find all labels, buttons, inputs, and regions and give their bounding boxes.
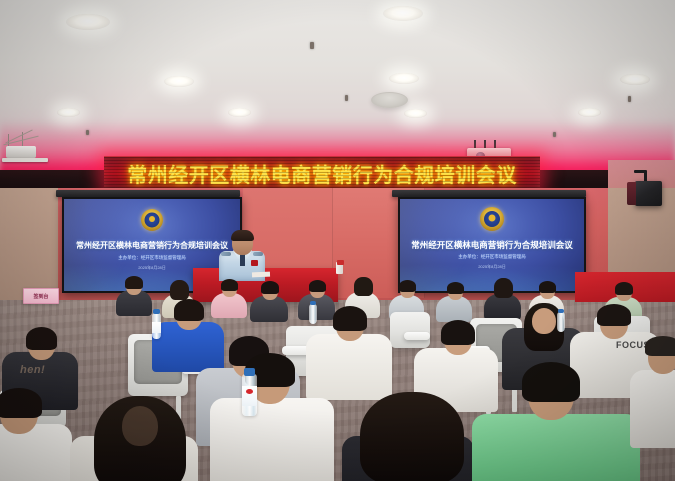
presenter-hair	[231, 230, 254, 241]
ceiling-light	[383, 6, 423, 21]
ceiling-light	[620, 74, 650, 85]
presenter-epaulette	[253, 252, 263, 256]
screen-left-subtitle: 主办单位：经开区市场监督管理局	[64, 255, 240, 261]
sprinkler-head-icon	[345, 95, 348, 101]
signin-placard-text: 签到台	[33, 293, 48, 300]
bottle-label	[152, 322, 161, 333]
screen-right-subtitle: 主办单位：经开区市场监督管理局	[400, 254, 584, 260]
ceiling-light	[57, 108, 80, 117]
person-torso	[472, 414, 640, 481]
person-torso	[306, 334, 392, 400]
person-hair	[522, 362, 580, 402]
screen-left-title: 常州经开区横林电商营销行为合规培训会议	[64, 240, 240, 251]
shirt-print-hen: hen!	[20, 364, 45, 376]
person-hair	[597, 304, 631, 326]
bottle-logo-icon	[246, 389, 253, 394]
police-badge-emblem	[480, 207, 504, 231]
sprinkler-head-icon	[86, 130, 89, 135]
conference-room-photo: 常州经开区横林电商营销行为合规培训会议 常州经开区横林电商营销行为合规培训会议 …	[0, 0, 675, 481]
screen-right-title: 常州经开区横林电商营销行为合规培训会议	[400, 239, 584, 251]
ceiling-projector-left	[2, 132, 48, 170]
sprinkler-head-icon	[310, 42, 314, 49]
ceiling-light	[389, 73, 419, 84]
person-hair	[494, 278, 513, 298]
presenter-epaulette	[221, 252, 231, 256]
sprinkler-head-icon	[553, 132, 556, 137]
projection-screen-right: 常州经开区横林电商营销行为合规培训会议 主办单位：经开区市场监督管理局 2025…	[400, 199, 584, 291]
person-hair	[170, 280, 189, 300]
ceiling-light	[164, 76, 194, 87]
person-hair	[309, 280, 326, 292]
person-head	[122, 406, 158, 446]
person-torso	[210, 398, 334, 481]
person-hair	[615, 282, 633, 295]
person-hair	[645, 336, 675, 356]
led-banner: 常州经开区横林电商营销行为合规培训会议	[104, 156, 540, 191]
emblem-star-icon	[149, 216, 155, 222]
water-bottle[interactable]	[309, 304, 317, 324]
person-hair	[261, 281, 279, 294]
screen-roller-right	[392, 190, 586, 197]
screen-right-date: 2025年8月28日	[400, 264, 584, 270]
person-hair	[26, 327, 57, 350]
police-badge-emblem	[141, 209, 163, 231]
signin-placard: 签到台	[23, 288, 59, 304]
ceiling-light	[404, 109, 427, 118]
document-on-table	[252, 272, 270, 278]
person-hair	[360, 392, 464, 481]
projector-body	[6, 146, 36, 158]
sprinkler-head-icon	[628, 96, 631, 102]
person-hair	[441, 320, 475, 345]
red-cup	[337, 260, 344, 265]
presenter-badge	[251, 260, 258, 266]
person-hair	[174, 299, 204, 321]
bottle-cap	[153, 309, 160, 314]
person-torso	[630, 370, 675, 448]
speaker-grille	[627, 182, 636, 205]
led-banner-text: 常州经开区横林电商营销行为合规培训会议	[127, 159, 517, 188]
person-hair	[125, 276, 143, 289]
presenter-tie	[240, 254, 245, 266]
water-bottle[interactable]	[557, 312, 565, 332]
person-hair	[0, 388, 42, 418]
person-head	[532, 308, 556, 334]
screen-roller-left	[56, 190, 240, 197]
training-chair[interactable]	[390, 312, 430, 348]
chair-tablet-arm[interactable]	[404, 332, 430, 340]
bottle-cap	[310, 301, 316, 305]
projection-screen-right-frame: 常州经开区横林电商营销行为合规培训会议 主办单位：经开区市场监督管理局 2025…	[398, 197, 586, 293]
ceiling-light	[66, 14, 110, 30]
projector-mount-plate	[2, 158, 48, 162]
person-hair	[399, 280, 416, 292]
person-hair	[221, 279, 238, 291]
emblem-star-icon	[489, 215, 496, 222]
ceiling-vent	[371, 92, 408, 108]
person-hair	[333, 306, 367, 331]
bottle-cap	[244, 368, 255, 376]
person-hair	[447, 282, 464, 294]
ceiling-light	[228, 108, 251, 117]
bottle-cap	[558, 309, 564, 313]
wall-speaker-right	[635, 181, 662, 206]
person-hair	[539, 281, 556, 293]
ceiling-light	[578, 108, 601, 117]
person-hair	[354, 277, 373, 296]
